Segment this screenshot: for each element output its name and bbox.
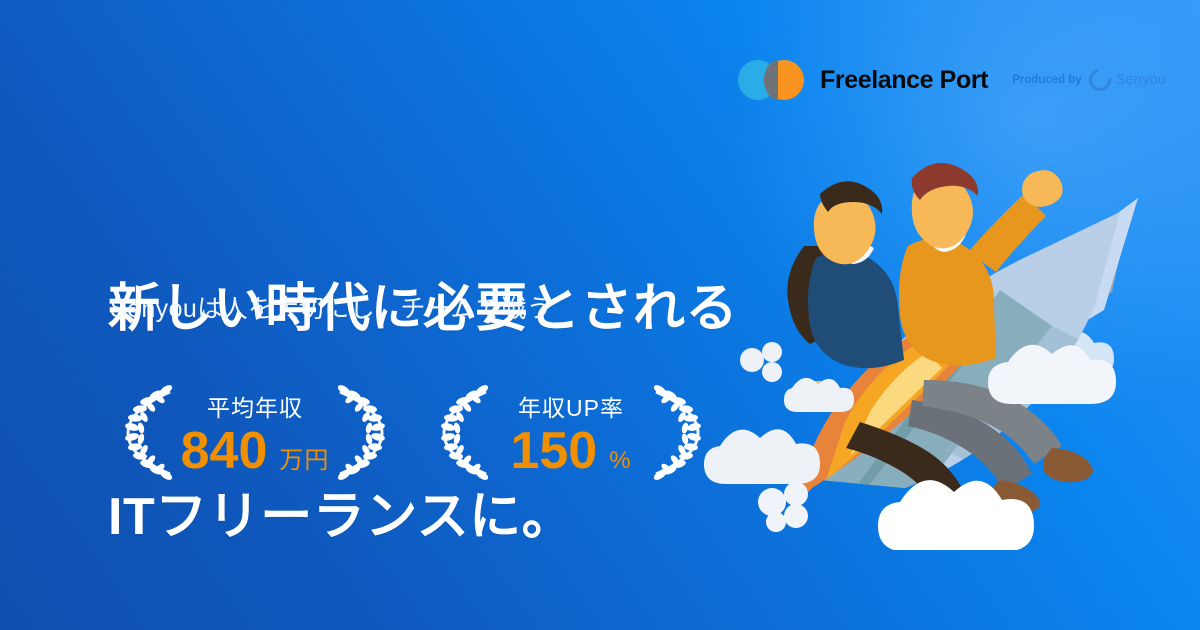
brand-name: Freelance Port — [820, 66, 988, 95]
cloud-puff-tiny — [740, 342, 782, 382]
stat-value-row: 150 % — [510, 425, 631, 477]
headline-line-2: ITフリーランスに。 — [108, 483, 738, 552]
stat-unit: 万円 — [279, 440, 329, 475]
stat-income-up-rate: 年収UP率 150 % — [424, 378, 718, 488]
senyou-brand-name: Senyou — [1116, 72, 1166, 88]
stat-value-row: 840 万円 — [181, 425, 330, 477]
hero-banner: Freelance Port Produced by Senyou — [0, 0, 1200, 630]
stat-label: 平均年収 — [207, 389, 303, 423]
stat-average-income: 平均年収 840 万円 — [108, 378, 402, 488]
senyou-ring-icon — [1084, 65, 1115, 96]
produced-by-group: Produced by Senyou — [1012, 69, 1166, 91]
two-people-riding-rocket-illustration — [700, 150, 1170, 550]
stat-label: 年収UP率 — [518, 389, 624, 423]
brand-bar: Freelance Port Produced by Senyou — [738, 60, 1166, 100]
stat-value: 150 — [510, 425, 597, 477]
freelance-port-logo-icon — [738, 60, 804, 100]
stats-group: 平均年収 840 万円 — [108, 378, 718, 488]
cloud-puff-small — [758, 482, 808, 532]
subheadline: Senyouは人を大切にし、チームで戦う — [110, 289, 552, 325]
stat-value: 840 — [181, 425, 268, 477]
stat-unit: % — [609, 447, 631, 475]
produced-by-label: Produced by — [1012, 74, 1082, 86]
